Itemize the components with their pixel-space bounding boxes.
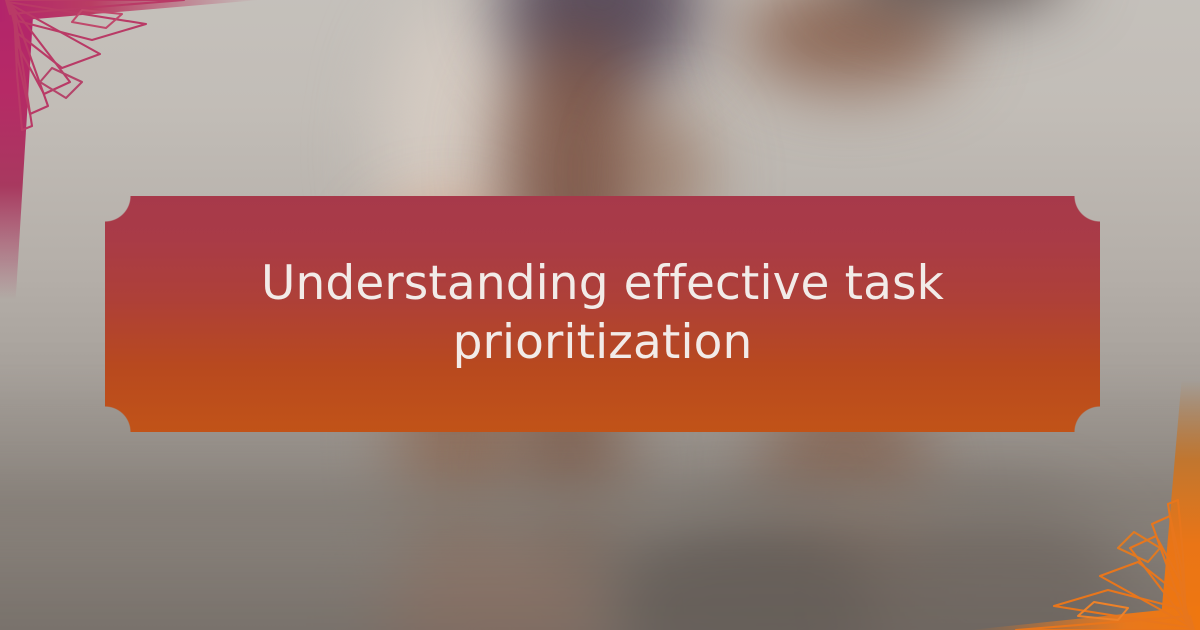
page-title: Understanding effective task prioritizat… <box>178 255 1028 373</box>
share-card-canvas: Understanding effective task prioritizat… <box>0 0 1200 630</box>
corner-ornament-top-left-icon <box>0 0 186 139</box>
corner-ornament-bottom-right-icon <box>1014 491 1200 630</box>
title-card: Understanding effective task prioritizat… <box>105 196 1100 432</box>
